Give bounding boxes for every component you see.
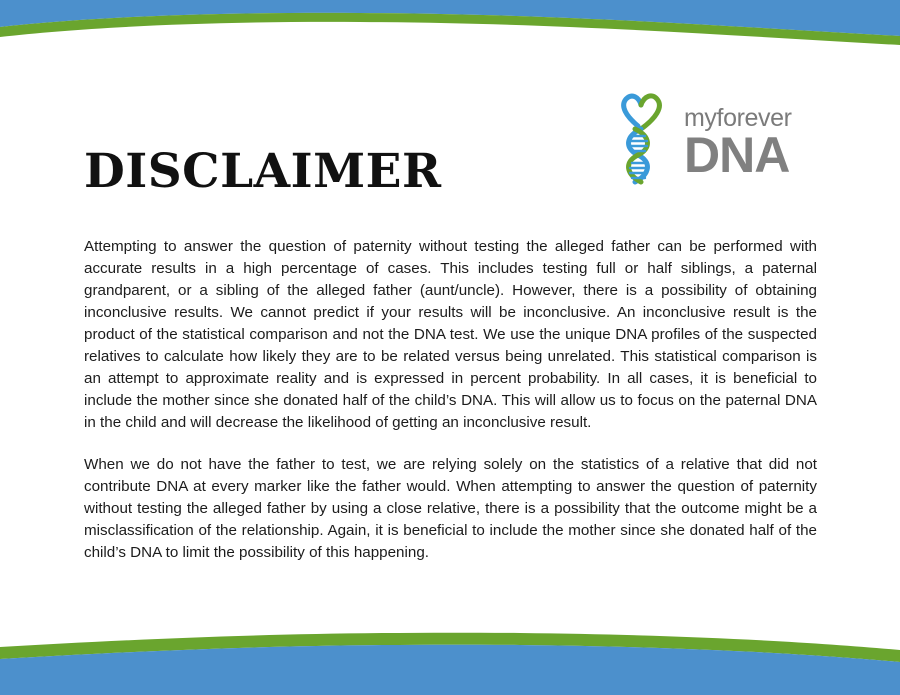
document-sheet: myforever DNA DISCLAIMER Attempting to a… [0, 62, 900, 617]
top-wave-decoration [0, 0, 900, 62]
top-wave-green [0, 13, 900, 45]
brand-name-bottom: DNA [684, 132, 792, 178]
disclaimer-body: Attempting to answer the question of pat… [84, 236, 817, 564]
dna-heart-helix-icon [608, 92, 680, 192]
bottom-wave-decoration [0, 617, 900, 695]
brand-wordmark: myforever DNA [684, 106, 792, 178]
page-title: DISCLAIMER [84, 144, 442, 199]
paragraph-1: Attempting to answer the question of pat… [84, 236, 817, 434]
paragraph-2: When we do not have the father to test, … [84, 454, 817, 564]
bottom-wave-blue [0, 645, 900, 695]
brand-logo: myforever DNA [608, 89, 823, 194]
top-wave-blue [0, 0, 900, 36]
bottom-wave-green [0, 633, 900, 662]
